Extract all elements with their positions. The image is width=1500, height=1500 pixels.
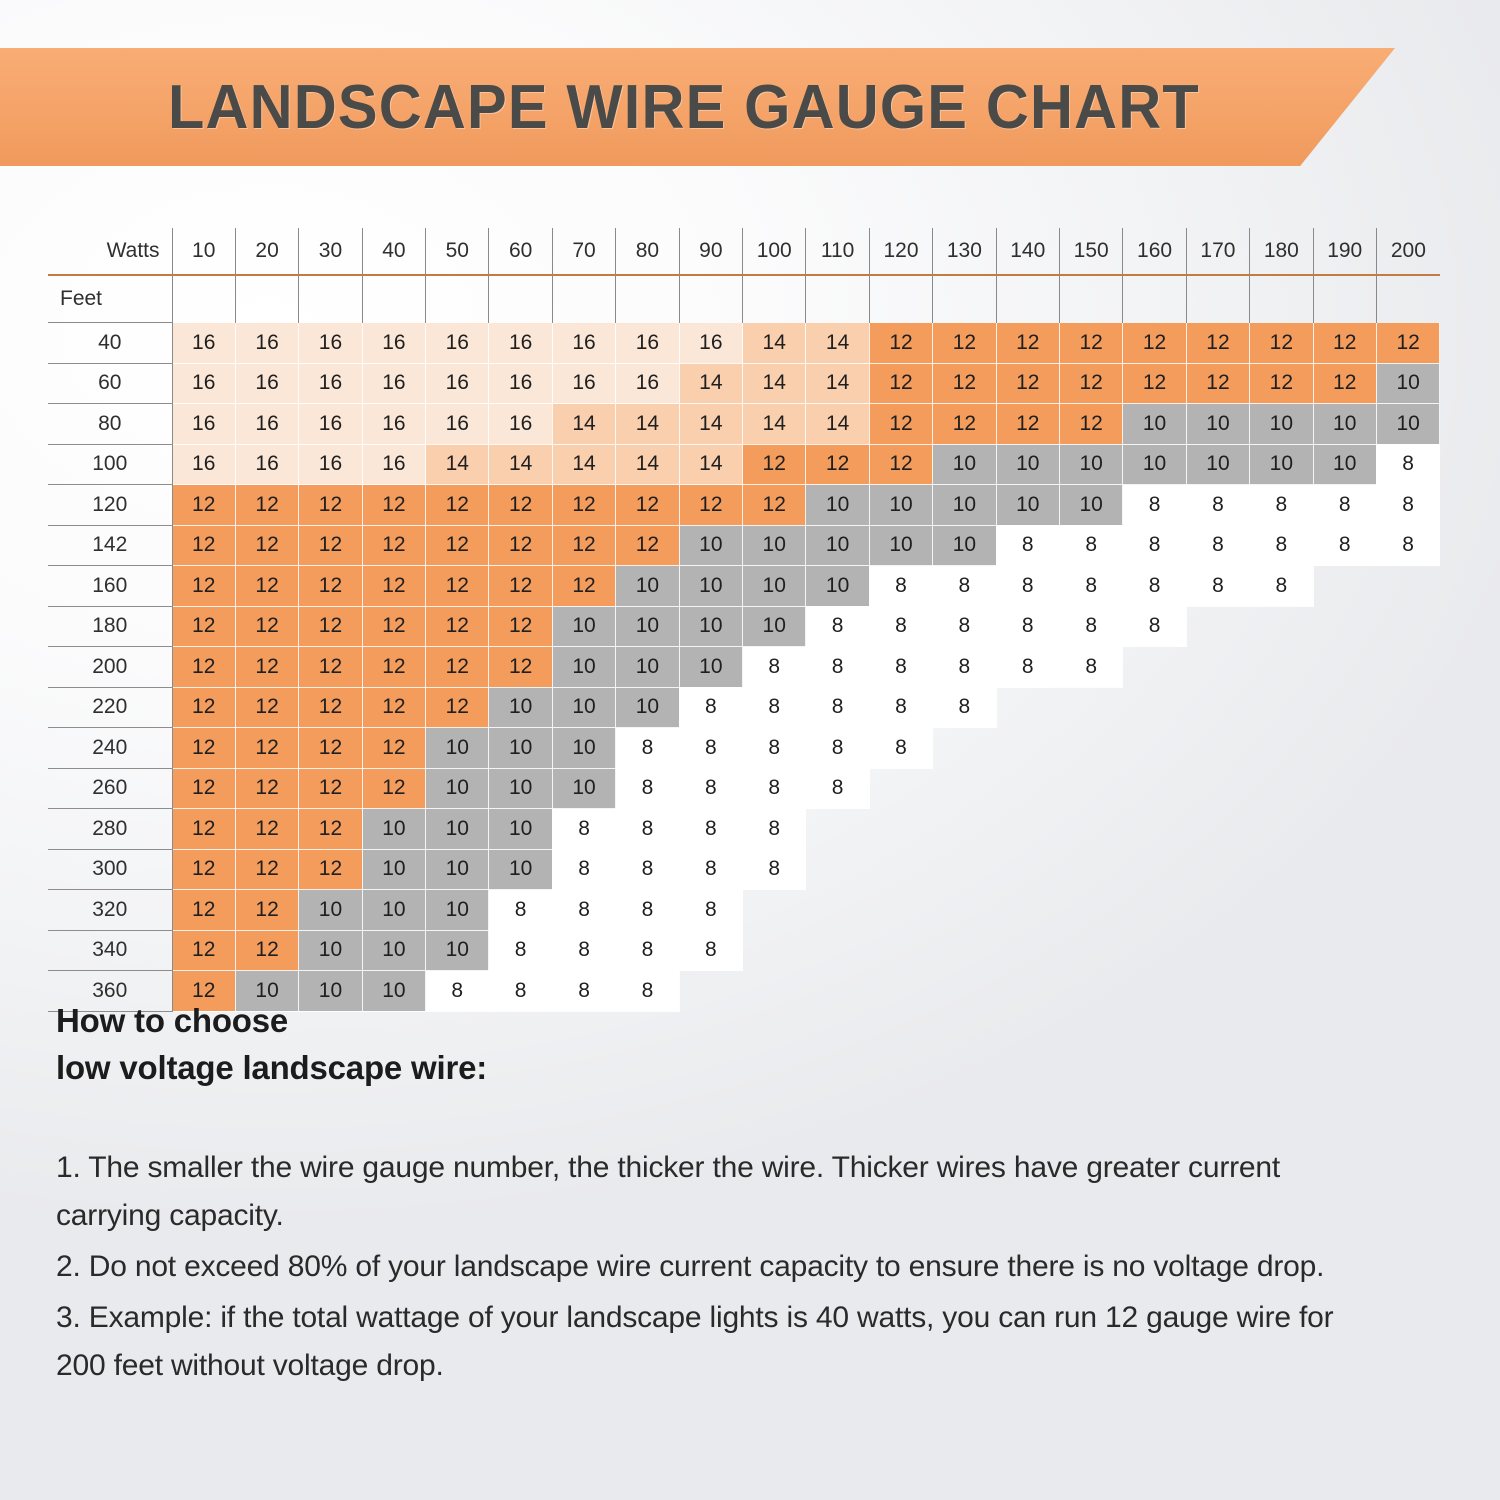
gauge-cell: 10 [1186,404,1249,445]
header-spacer-cell [1250,275,1313,323]
gauge-cell: 8 [933,647,996,688]
table-row: 32012121010108888 [48,890,1440,931]
gauge-cell: 12 [172,809,235,850]
gauge-cell: 12 [933,323,996,364]
gauge-cell-empty [1123,890,1186,931]
gauge-cell: 10 [996,444,1059,485]
gauge-cell: 10 [552,606,615,647]
gauge-cell-empty [1186,890,1249,931]
gauge-cell: 8 [552,809,615,850]
gauge-cell: 12 [235,647,298,688]
gauge-cell: 14 [679,404,742,445]
gauge-cell: 8 [616,768,679,809]
gauge-cell: 12 [1123,363,1186,404]
gauge-cell: 8 [743,768,806,809]
column-header-watts-100: 100 [743,228,806,275]
gauge-cell: 8 [743,687,806,728]
gauge-cell: 8 [743,728,806,769]
gauge-cell: 10 [806,566,869,607]
gauge-cell: 8 [806,606,869,647]
column-header-watts-80: 80 [616,228,679,275]
gauge-cell: 10 [552,728,615,769]
gauge-cell: 12 [743,444,806,485]
gauge-cell: 8 [1376,525,1439,566]
gauge-cell: 10 [1376,404,1439,445]
gauge-cell: 12 [1313,323,1376,364]
row-label-feet-200: 200 [48,647,172,688]
gauge-cell: 10 [299,930,362,971]
gauge-cell: 10 [933,525,996,566]
gauge-cell: 12 [996,363,1059,404]
gauge-cell: 12 [235,768,298,809]
gauge-cell: 8 [1186,566,1249,607]
gauge-cell-empty [1250,687,1313,728]
gauge-cell: 12 [426,687,489,728]
gauge-cell: 10 [1186,444,1249,485]
gauge-cell: 12 [299,687,362,728]
gauge-cell: 14 [426,444,489,485]
table-body: 4016161616161616161614141212121212121212… [48,323,1440,1012]
gauge-cell: 10 [1059,485,1122,526]
gauge-cell: 16 [362,404,425,445]
gauge-cell: 12 [552,485,615,526]
gauge-cell: 8 [679,768,742,809]
gauge-cell: 12 [362,525,425,566]
gauge-cell: 12 [933,404,996,445]
gauge-cell: 10 [489,849,552,890]
gauge-cell: 8 [869,728,932,769]
gauge-cell: 10 [616,647,679,688]
gauge-cell: 12 [743,485,806,526]
gauge-cell: 8 [869,687,932,728]
gauge-cell-empty [1250,728,1313,769]
gauge-cell-empty [1250,849,1313,890]
gauge-cell-empty [1376,606,1439,647]
gauge-cell: 10 [1250,404,1313,445]
gauge-cell: 8 [679,728,742,769]
gauge-cell: 8 [1059,647,1122,688]
gauge-cell-empty [869,809,932,850]
gauge-cell-empty [806,890,869,931]
wire-gauge-table-wrap: Watts 1020304050607080901001101201301401… [48,228,1444,1012]
gauge-cell: 8 [552,890,615,931]
gauge-cell: 8 [679,687,742,728]
gauge-cell-empty [933,809,996,850]
gauge-cell: 8 [616,890,679,931]
gauge-cell: 8 [1250,566,1313,607]
header-spacer-cell [362,275,425,323]
gauge-cell-empty [996,728,1059,769]
gauge-cell: 12 [362,687,425,728]
gauge-cell: 12 [616,525,679,566]
gauge-cell: 16 [235,363,298,404]
gauge-cell: 12 [172,890,235,931]
gauge-cell: 10 [616,566,679,607]
gauge-cell: 16 [172,444,235,485]
gauge-cell-empty [1313,849,1376,890]
gauge-cell: 12 [235,687,298,728]
gauge-cell-empty [1376,768,1439,809]
header-row-watts: Watts 1020304050607080901001101201301401… [48,228,1440,275]
header-spacer-cell [489,275,552,323]
gauge-cell: 8 [996,647,1059,688]
gauge-cell: 10 [933,444,996,485]
gauge-cell: 12 [172,930,235,971]
gauge-cell-empty [1186,687,1249,728]
note-paragraph-2: 2. Do not exceed 80% of your landscape w… [56,1243,1386,1292]
column-header-watts-10: 10 [172,228,235,275]
gauge-cell-empty [1123,809,1186,850]
table-row: 18012121212121210101010888888 [48,606,1440,647]
gauge-cell: 14 [806,363,869,404]
gauge-cell-empty [1059,930,1122,971]
gauge-cell: 12 [299,849,362,890]
table-row: 34012121010108888 [48,930,1440,971]
gauge-cell-empty [1250,809,1313,850]
table-header: Watts 1020304050607080901001101201301401… [48,228,1440,323]
gauge-cell-empty [1059,849,1122,890]
column-header-watts-200: 200 [1376,228,1439,275]
gauge-cell-empty [933,849,996,890]
gauge-cell: 12 [299,809,362,850]
gauge-cell-empty [933,768,996,809]
row-label-feet-160: 160 [48,566,172,607]
gauge-cell-empty [1313,728,1376,769]
notes-heading-line-1: How to choose [56,998,1386,1045]
gauge-cell: 8 [616,809,679,850]
gauge-cell: 8 [1376,485,1439,526]
row-label-feet-60: 60 [48,363,172,404]
gauge-cell: 8 [869,606,932,647]
row-label-feet-320: 320 [48,890,172,931]
table-row: 2801212121010108888 [48,809,1440,850]
gauge-cell: 12 [172,647,235,688]
gauge-cell-empty [806,930,869,971]
gauge-cell: 8 [1059,566,1122,607]
gauge-cell-empty [1123,849,1186,890]
gauge-cell-empty [1059,768,1122,809]
gauge-cell: 12 [172,728,235,769]
gauge-cell-empty [996,890,1059,931]
gauge-cell: 8 [1250,485,1313,526]
gauge-cell: 10 [1313,404,1376,445]
gauge-cell-empty [743,890,806,931]
gauge-cell: 16 [362,444,425,485]
gauge-cell-empty [1376,890,1439,931]
column-header-watts-90: 90 [679,228,742,275]
gauge-cell: 8 [1123,566,1186,607]
gauge-cell: 16 [362,323,425,364]
gauge-cell: 12 [172,606,235,647]
gauge-cell: 12 [996,404,1059,445]
column-header-watts-180: 180 [1250,228,1313,275]
table-row: 200121212121212101010888888 [48,647,1440,688]
gauge-cell-empty [806,809,869,850]
gauge-cell: 10 [1376,363,1439,404]
gauge-cell: 16 [679,323,742,364]
column-header-watts-130: 130 [933,228,996,275]
gauge-cell: 10 [362,809,425,850]
gauge-cell: 16 [299,323,362,364]
gauge-cell: 10 [1059,444,1122,485]
gauge-cell: 8 [616,728,679,769]
gauge-cell: 10 [362,930,425,971]
gauge-cell: 12 [869,444,932,485]
gauge-cell: 10 [869,485,932,526]
gauge-cell: 12 [489,647,552,688]
gauge-cell: 14 [616,444,679,485]
header-row-feet: Feet [48,275,1440,323]
column-header-watts-120: 120 [869,228,932,275]
note-paragraph-1: 1. The smaller the wire gauge number, th… [56,1144,1386,1241]
corner-label-watts: Watts [48,228,172,275]
gauge-cell: 8 [743,647,806,688]
gauge-cell: 10 [996,485,1059,526]
header-spacer-cell [426,275,489,323]
gauge-cell: 10 [679,566,742,607]
gauge-cell-empty [1186,809,1249,850]
gauge-cell-empty [1123,728,1186,769]
gauge-cell: 12 [299,525,362,566]
gauge-cell-empty [1123,687,1186,728]
gauge-cell-empty [933,930,996,971]
gauge-cell: 12 [299,566,362,607]
header-spacer-cell [235,275,298,323]
gauge-cell: 12 [299,768,362,809]
header-spacer-cell [552,275,615,323]
gauge-cell: 14 [489,444,552,485]
gauge-cell: 12 [679,485,742,526]
gauge-cell: 12 [235,525,298,566]
gauge-cell: 8 [1186,525,1249,566]
gauge-cell-empty [1186,930,1249,971]
gauge-cell: 16 [426,323,489,364]
gauge-cell: 14 [552,404,615,445]
gauge-cell: 12 [489,525,552,566]
gauge-cell: 8 [996,525,1059,566]
gauge-cell-empty [1376,809,1439,850]
gauge-cell: 12 [426,485,489,526]
gauge-cell: 12 [235,809,298,850]
gauge-cell: 12 [172,687,235,728]
gauge-cell: 12 [426,606,489,647]
gauge-cell: 16 [172,404,235,445]
gauge-cell: 14 [743,404,806,445]
gauge-cell: 8 [996,606,1059,647]
gauge-cell: 16 [489,323,552,364]
gauge-cell: 8 [1250,525,1313,566]
gauge-cell: 12 [235,890,298,931]
column-header-watts-110: 110 [806,228,869,275]
row-label-feet-260: 260 [48,768,172,809]
gauge-cell-empty [1123,768,1186,809]
gauge-cell: 12 [426,566,489,607]
gauge-cell: 8 [552,930,615,971]
row-label-feet-220: 220 [48,687,172,728]
gauge-cell: 12 [1059,363,1122,404]
header-spacer-cell [869,275,932,323]
gauge-cell: 12 [1250,323,1313,364]
gauge-cell: 10 [616,606,679,647]
row-label-feet-40: 40 [48,323,172,364]
row-label-feet-300: 300 [48,849,172,890]
gauge-cell: 16 [616,363,679,404]
column-header-watts-40: 40 [362,228,425,275]
gauge-cell-empty [1186,849,1249,890]
gauge-cell-empty [1313,647,1376,688]
gauge-cell: 12 [869,363,932,404]
gauge-cell: 12 [1059,404,1122,445]
notes-section: How to choose low voltage landscape wire… [56,998,1386,1393]
gauge-cell: 12 [1376,323,1439,364]
gauge-cell: 12 [299,485,362,526]
wire-gauge-table: Watts 1020304050607080901001101201301401… [48,228,1440,1012]
gauge-cell-empty [1250,768,1313,809]
gauge-cell-empty [743,930,806,971]
header-spacer-cell [616,275,679,323]
gauge-cell: 8 [679,809,742,850]
gauge-cell: 12 [869,404,932,445]
gauge-cell: 12 [1186,323,1249,364]
gauge-cell-empty [1059,728,1122,769]
gauge-cell: 10 [426,809,489,850]
gauge-cell: 10 [1123,444,1186,485]
gauge-cell: 12 [172,849,235,890]
notes-body: 1. The smaller the wire gauge number, th… [56,1144,1386,1391]
gauge-cell: 16 [299,404,362,445]
gauge-cell-empty [1376,647,1439,688]
gauge-cell: 14 [679,444,742,485]
gauge-cell: 10 [426,728,489,769]
table-row: 12012121212121212121212101010101088888 [48,485,1440,526]
gauge-cell: 12 [806,444,869,485]
gauge-cell: 10 [933,485,996,526]
gauge-cell: 14 [616,404,679,445]
gauge-cell-empty [996,809,1059,850]
gauge-cell: 8 [1186,485,1249,526]
gauge-cell: 12 [362,485,425,526]
gauge-cell: 10 [1313,444,1376,485]
gauge-cell: 8 [1123,606,1186,647]
gauge-cell: 16 [426,404,489,445]
gauge-cell-empty [1313,566,1376,607]
gauge-cell: 12 [299,647,362,688]
column-header-watts-20: 20 [235,228,298,275]
gauge-cell: 10 [552,687,615,728]
gauge-cell: 10 [489,728,552,769]
gauge-cell: 8 [996,566,1059,607]
gauge-cell: 10 [869,525,932,566]
table-row: 1001616161614141414141212121010101010101… [48,444,1440,485]
gauge-cell-empty [869,768,932,809]
gauge-cell: 10 [616,687,679,728]
gauge-cell: 10 [426,768,489,809]
gauge-cell: 8 [1313,485,1376,526]
gauge-cell-empty [806,849,869,890]
gauge-cell: 16 [489,404,552,445]
gauge-cell: 16 [426,363,489,404]
table-row: 4016161616161616161614141212121212121212… [48,323,1440,364]
gauge-cell: 14 [743,363,806,404]
gauge-cell: 10 [426,890,489,931]
column-header-watts-160: 160 [1123,228,1186,275]
gauge-cell: 12 [362,606,425,647]
row-label-feet-142: 142 [48,525,172,566]
header-spacer-cell [172,275,235,323]
gauge-cell: 8 [616,849,679,890]
gauge-cell-empty [1059,890,1122,931]
gauge-cell: 10 [806,485,869,526]
gauge-cell-empty [1250,890,1313,931]
gauge-cell: 12 [552,525,615,566]
gauge-cell: 16 [172,323,235,364]
gauge-cell: 10 [743,525,806,566]
header-spacer-cell [996,275,1059,323]
gauge-cell: 16 [362,363,425,404]
gauge-cell-empty [1376,728,1439,769]
gauge-cell: 12 [1186,363,1249,404]
gauge-cell: 10 [743,566,806,607]
gauge-cell: 8 [679,849,742,890]
gauge-cell: 12 [299,728,362,769]
gauge-cell: 16 [299,363,362,404]
gauge-cell: 8 [616,930,679,971]
gauge-cell: 12 [362,647,425,688]
header-spacer-cell [1376,275,1439,323]
gauge-cell: 10 [552,647,615,688]
gauge-cell: 8 [1059,525,1122,566]
gauge-cell: 8 [1313,525,1376,566]
gauge-cell: 12 [933,363,996,404]
gauge-cell: 12 [1123,323,1186,364]
gauge-cell: 8 [806,728,869,769]
gauge-cell-empty [1376,566,1439,607]
gauge-cell-empty [1376,849,1439,890]
header-spacer-cell [1186,275,1249,323]
gauge-cell: 10 [489,768,552,809]
column-header-watts-70: 70 [552,228,615,275]
table-row: 2401212121210101088888 [48,728,1440,769]
table-row: 220121212121210101088888 [48,687,1440,728]
gauge-cell: 10 [426,849,489,890]
gauge-cell-empty [1186,647,1249,688]
gauge-cell: 12 [235,930,298,971]
gauge-cell: 12 [1059,323,1122,364]
gauge-cell: 8 [552,849,615,890]
gauge-cell-empty [1123,930,1186,971]
gauge-cell-empty [1313,930,1376,971]
gauge-cell-empty [869,930,932,971]
row-label-feet-180: 180 [48,606,172,647]
gauge-cell: 14 [679,363,742,404]
gauge-cell: 12 [1250,363,1313,404]
gauge-cell: 12 [172,566,235,607]
gauge-cell: 16 [172,363,235,404]
gauge-cell: 12 [172,485,235,526]
gauge-cell: 10 [362,890,425,931]
gauge-cell: 10 [1123,404,1186,445]
gauge-cell: 16 [616,323,679,364]
gauge-cell: 8 [489,930,552,971]
row-label-feet-100: 100 [48,444,172,485]
row-label-feet-240: 240 [48,728,172,769]
gauge-cell-empty [869,890,932,931]
column-header-watts-60: 60 [489,228,552,275]
gauge-cell: 8 [489,890,552,931]
gauge-cell-empty [1250,647,1313,688]
page-title: LANDSCAPE WIRE GAUGE CHART [168,72,1200,143]
gauge-cell: 12 [616,485,679,526]
